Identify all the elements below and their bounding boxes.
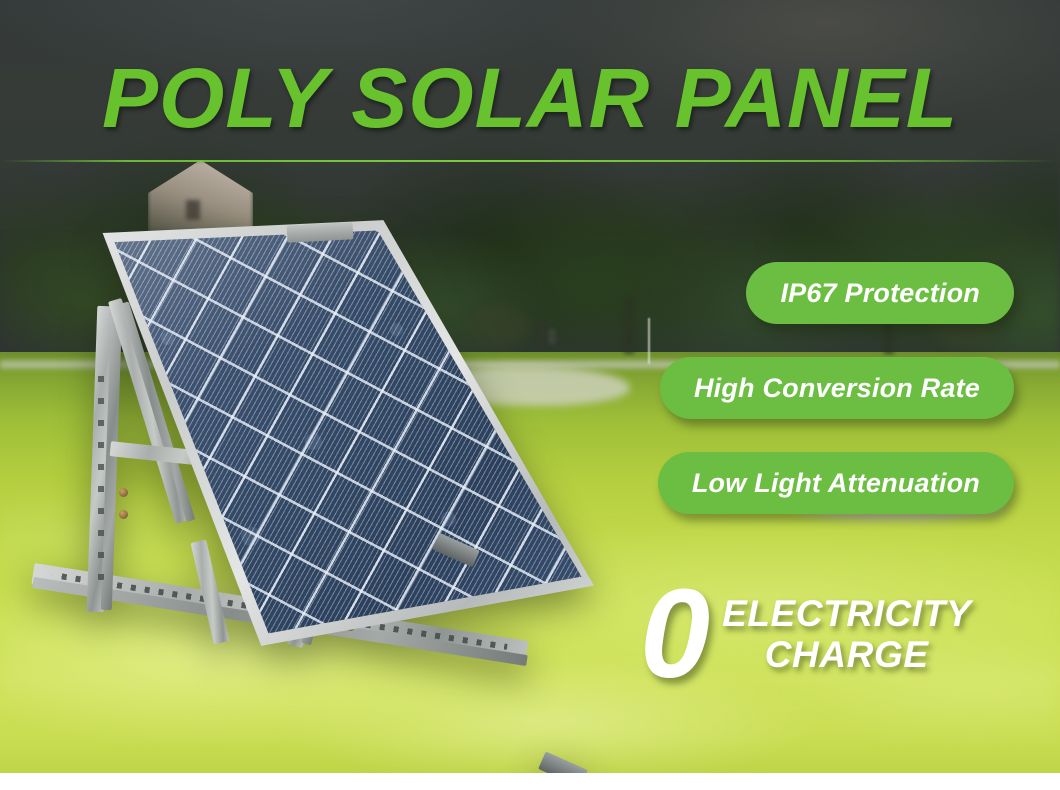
- pv-top-clamp: [287, 222, 354, 242]
- pv-cell-rows: [74, 218, 594, 648]
- promo-banner: POLY SOLAR PANEL IP67 Protection High Co…: [0, 0, 1060, 790]
- feature-pill-label: IP67 Protection: [780, 278, 980, 309]
- page-title: POLY SOLAR PANEL: [0, 56, 1060, 140]
- solar-panel-product: [16, 210, 596, 720]
- feature-pill-list: IP67 Protection High Conversion Rate Low…: [658, 262, 1014, 514]
- feature-pill-ip67[interactable]: IP67 Protection: [746, 262, 1014, 324]
- feature-pill-attenuation[interactable]: Low Light Attenuation: [658, 452, 1014, 514]
- zero-caption: ELECTRICITY CHARGE: [722, 593, 971, 676]
- scene-photo: POLY SOLAR PANEL IP67 Protection High Co…: [0, 0, 1060, 773]
- bottom-white-band: [0, 773, 1060, 790]
- feature-pill-label: Low Light Attenuation: [692, 468, 980, 499]
- feature-pill-conversion[interactable]: High Conversion Rate: [660, 357, 1014, 419]
- header-divider-rule: [0, 160, 1060, 162]
- feature-pill-label: High Conversion Rate: [694, 373, 980, 404]
- zero-electricity-charge: 0 ELECTRICITY CHARGE: [640, 580, 971, 688]
- zero-caption-line1: ELECTRICITY: [722, 593, 971, 634]
- pv-module: [74, 218, 594, 648]
- zero-caption-line2: CHARGE: [722, 634, 971, 675]
- course-flagpole: [648, 318, 650, 364]
- zero-numeral: 0: [640, 580, 710, 688]
- tree-trunk-mid: [624, 296, 634, 354]
